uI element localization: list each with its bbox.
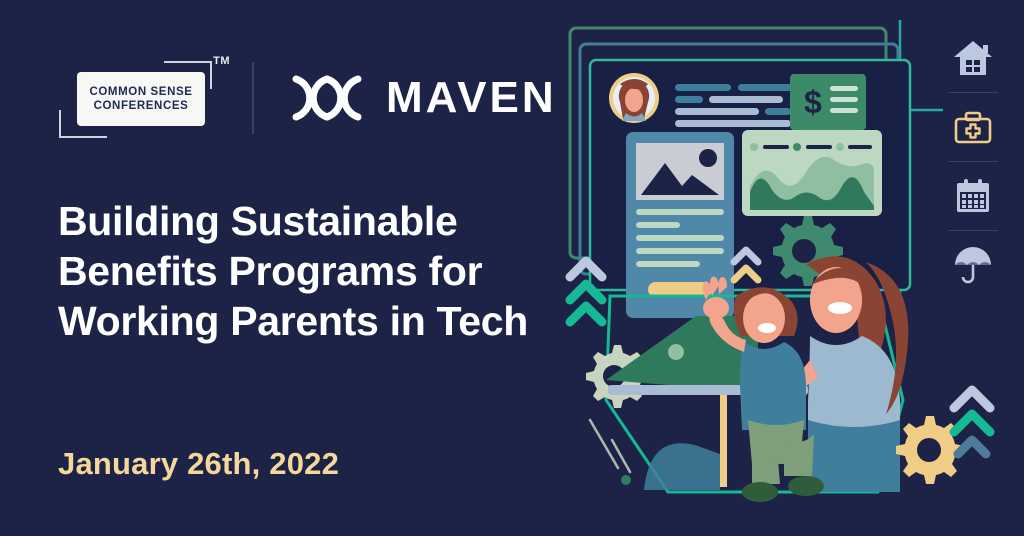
chevron-arrows-left — [570, 261, 602, 322]
maven-wordmark: MAVEN — [386, 76, 557, 120]
image-placeholder-card — [626, 132, 734, 318]
maven-arcs-icon — [290, 73, 364, 123]
logo-plate: COMMON SENSE CONFERENCES — [77, 72, 205, 126]
trademark-symbol: TM — [213, 55, 230, 67]
logo-divider — [252, 62, 254, 134]
area-chart-card — [742, 130, 882, 216]
svg-text:$: $ — [804, 84, 822, 120]
working-parent-dashboard-illustration: $ — [548, 0, 1024, 536]
event-date: January 26th, 2022 — [58, 446, 339, 482]
page-title: Building Sustainable Benefits Programs f… — [58, 196, 558, 346]
money-card: $ — [790, 74, 866, 130]
logo-line-1: COMMON SENSE — [89, 85, 192, 99]
chevron-arrows-right — [954, 390, 990, 454]
chair — [644, 443, 720, 490]
logo-row: TM COMMON SENSE CONFERENCES MAVEN — [55, 52, 557, 144]
event-banner: TM COMMON SENSE CONFERENCES MAVEN Buildi… — [0, 0, 1024, 536]
accent-dot — [621, 475, 631, 485]
maven-logo[interactable]: MAVEN — [290, 73, 557, 123]
common-sense-conferences-logo[interactable]: TM COMMON SENSE CONFERENCES — [55, 52, 230, 144]
logo-line-2: CONFERENCES — [94, 99, 189, 113]
profile-avatar — [609, 73, 659, 123]
